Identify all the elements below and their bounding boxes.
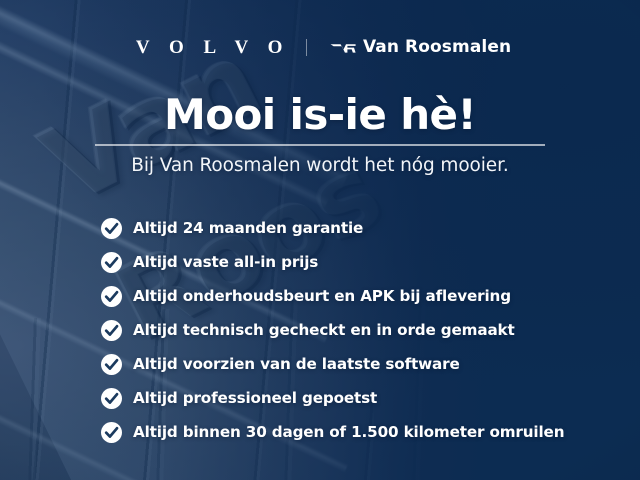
list-item: Altijd voorzien van de laatste software [101,347,564,381]
list-item-label: Altijd 24 maanden garantie [133,219,363,237]
check-circle-icon [101,252,122,273]
list-item: Altijd 24 maanden garantie [101,211,564,245]
dealer-name: Van Roosmalen [363,39,511,56]
dealer-logo: Van Roosmalen [330,39,511,56]
list-item: Altijd professioneel gepoetst [101,381,564,415]
list-item-label: Altijd technisch gecheckt en in orde gem… [133,321,515,339]
title-divider [95,144,545,146]
banner-content: V O L V O Van Roosmalen Mooi is-ie hè! B… [0,0,640,480]
list-item-label: Altijd professioneel gepoetst [133,389,377,407]
list-item-label: Altijd vaste all-in prijs [133,253,318,271]
check-circle-icon [101,286,122,307]
subtitle: Bij Van Roosmalen wordt het nóg mooier. [0,155,640,176]
benefits-list: Altijd 24 maanden garantie Altijd vaste … [101,211,564,449]
check-circle-icon [101,218,122,239]
check-circle-icon [101,320,122,341]
list-item: Altijd technisch gecheckt en in orde gem… [101,313,564,347]
promo-banner: Van Roos V O L V O Van Roosmalen Mooi is… [0,0,640,480]
check-circle-icon [101,354,122,375]
list-item: Altijd onderhoudsbeurt en APK bij afleve… [101,279,564,313]
list-item: Altijd vaste all-in prijs [101,245,564,279]
page-title: Mooi is-ie hè! [0,93,640,137]
volvo-wordmark: V O L V O [129,38,290,57]
vr-monogram-icon [330,40,356,56]
list-item: Altijd binnen 30 dagen of 1.500 kilomete… [101,415,564,449]
list-item-label: Altijd binnen 30 dagen of 1.500 kilomete… [133,423,564,441]
check-circle-icon [101,422,122,443]
logo-bar: V O L V O Van Roosmalen [0,38,640,57]
logo-separator [306,39,307,56]
list-item-label: Altijd voorzien van de laatste software [133,355,460,373]
list-item-label: Altijd onderhoudsbeurt en APK bij afleve… [133,287,511,305]
check-circle-icon [101,388,122,409]
